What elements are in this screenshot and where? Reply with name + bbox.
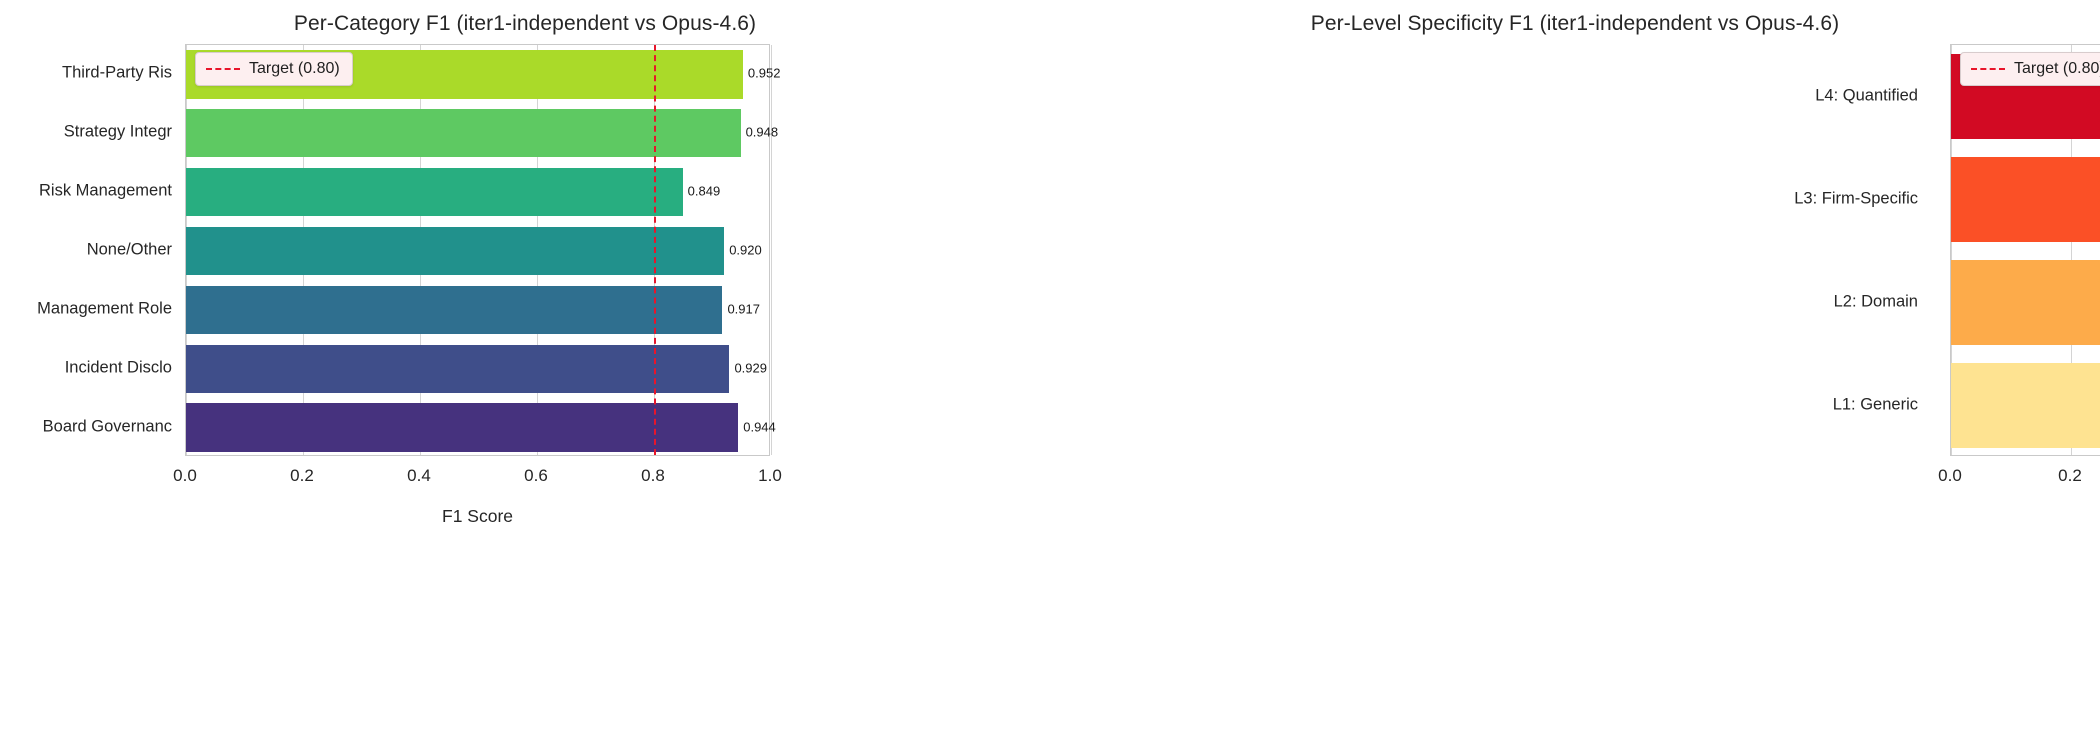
bar-value-label: 0.948	[746, 125, 779, 140]
bar-strategy-integr[interactable]	[186, 109, 741, 157]
bar-value-label: 0.849	[688, 184, 721, 199]
bar-l1-generic[interactable]	[1951, 363, 2100, 447]
bar-value-label: 0.944	[743, 419, 776, 434]
target-threshold-line	[654, 45, 656, 455]
legend[interactable]: Target (0.80)	[1960, 52, 2100, 86]
bar-row	[1951, 363, 2100, 447]
xtick-label: 0.2	[2058, 466, 2082, 486]
panel-per-level-specificity-f1: Per-Level Specificity F1 (iter1-independ…	[1050, 0, 2100, 750]
chart-title-right: Per-Level Specificity F1 (iter1-independ…	[1050, 12, 2100, 36]
plot-area-right	[1950, 44, 2100, 456]
ytick-label: Management Role	[0, 299, 180, 318]
bar-row	[186, 109, 771, 157]
panel-per-category-f1: Per-Category F1 (iter1-independent vs Op…	[0, 0, 1050, 750]
bar-management-role[interactable]	[186, 286, 722, 334]
xtick-label: 0.0	[1938, 466, 1962, 486]
bar-row	[186, 227, 771, 275]
xtick-label: 0.8	[641, 466, 665, 486]
xtick-label: 0.6	[524, 466, 548, 486]
ytick-label: L3: Firm-Specific	[1050, 189, 1930, 208]
figure-two-bar-charts: Per-Category F1 (iter1-independent vs Op…	[0, 0, 2100, 750]
chart-title-left: Per-Category F1 (iter1-independent vs Op…	[0, 12, 1050, 36]
legend-dashed-line-icon	[1971, 68, 2005, 70]
ytick-label: Risk Management	[0, 182, 180, 201]
ytick-label: Board Governanc	[0, 417, 180, 436]
legend-label-target: Target (0.80)	[249, 60, 340, 78]
gridline-x-1.0	[771, 45, 772, 455]
ytick-label: L2: Domain	[1050, 292, 1930, 311]
bar-row	[186, 403, 771, 451]
bar-risk-management[interactable]	[186, 168, 683, 216]
ytick-label: L1: Generic	[1050, 395, 1930, 414]
bar-value-label: 0.952	[748, 66, 781, 81]
bar-row	[186, 286, 771, 334]
legend-dashed-line-icon	[206, 68, 240, 70]
ytick-label: Strategy Integr	[0, 123, 180, 142]
bar-incident-disclo[interactable]	[186, 345, 729, 393]
ytick-label: None/Other	[0, 241, 180, 260]
bar-l3-firm-specific[interactable]	[1951, 157, 2100, 241]
ytick-label: L4: Quantified	[1050, 86, 1930, 105]
xtick-label: 0.4	[407, 466, 431, 486]
bar-l2-domain[interactable]	[1951, 260, 2100, 344]
ytick-label: Third-Party Ris	[0, 64, 180, 83]
ytick-label: Incident Disclo	[0, 358, 180, 377]
plot-area-left	[185, 44, 770, 456]
bar-value-label: 0.920	[729, 243, 762, 258]
xtick-label: 1.0	[758, 466, 782, 486]
legend[interactable]: Target (0.80)	[195, 52, 353, 86]
bar-value-label: 0.929	[734, 360, 767, 375]
xtick-label: 0.0	[173, 466, 197, 486]
bar-row	[1951, 260, 2100, 344]
bar-row	[186, 345, 771, 393]
bar-row	[1951, 157, 2100, 241]
bar-row	[186, 168, 771, 216]
bar-value-label: 0.917	[727, 301, 760, 316]
legend-label-target: Target (0.80)	[2014, 60, 2100, 78]
bar-none-other[interactable]	[186, 227, 724, 275]
xtick-label: 0.2	[290, 466, 314, 486]
x-axis-label: F1 Score	[442, 506, 513, 527]
